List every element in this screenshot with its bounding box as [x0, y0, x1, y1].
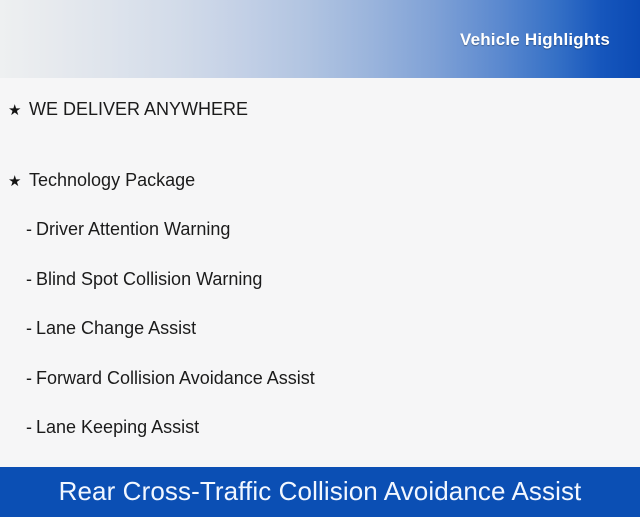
list-item: - Blind Spot Collision Warning: [0, 269, 640, 319]
list-item-label: Lane Change Assist: [36, 318, 196, 339]
highlights-list: ★ WE DELIVER ANYWHERE ★ Technology Packa…: [0, 78, 640, 467]
dash-bullet-icon: -: [26, 418, 36, 436]
list-item-label: Technology Package: [29, 170, 195, 191]
dash-bullet-icon: -: [26, 270, 36, 288]
page-title: Vehicle Highlights: [460, 30, 610, 50]
highlights-section: ★ WE DELIVER ANYWHERE ★ Technology Packa…: [0, 78, 640, 467]
star-bullet-icon: ★: [8, 103, 29, 118]
dash-bullet-icon: -: [26, 319, 36, 337]
header-banner: Vehicle Highlights: [0, 0, 640, 78]
dash-bullet-icon: -: [26, 369, 36, 387]
list-item-label: Blind Spot Collision Warning: [36, 269, 262, 290]
footer-banner: Rear Cross-Traffic Collision Avoidance A…: [0, 467, 640, 517]
list-item: ★ Technology Package: [0, 170, 640, 220]
list-item-label: Forward Collision Avoidance Assist: [36, 368, 315, 389]
list-item-label: WE DELIVER ANYWHERE: [29, 99, 248, 120]
list-item: - Driver Attention Warning: [0, 219, 640, 269]
list-item: - Forward Collision Avoidance Assist: [0, 368, 640, 418]
list-item: - Lane Keeping Assist: [0, 417, 640, 467]
footer-headline: Rear Cross-Traffic Collision Avoidance A…: [59, 476, 582, 507]
list-item: ★ WE DELIVER ANYWHERE: [0, 78, 640, 170]
dash-bullet-icon: -: [26, 220, 36, 238]
vehicle-highlights-slide: Vehicle Highlights ★ WE DELIVER ANYWHERE…: [0, 0, 640, 480]
list-item-label: Driver Attention Warning: [36, 219, 230, 240]
list-item: - Lane Change Assist: [0, 318, 640, 368]
list-item-label: Lane Keeping Assist: [36, 417, 199, 438]
star-bullet-icon: ★: [8, 174, 29, 189]
